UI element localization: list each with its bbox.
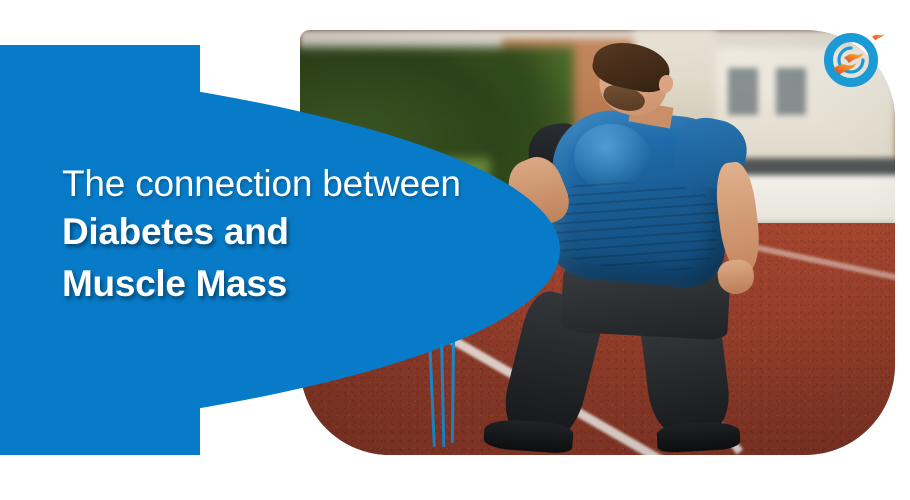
headline-line-3: Muscle Mass [62,258,562,311]
bird-circle-logo-icon [820,26,890,88]
headline-line-1: The connection between [62,163,562,206]
bird-circle-logo[interactable] [820,26,890,88]
headline-block: The connection between Diabetes and Musc… [62,163,562,311]
promo-banner: The connection between Diabetes and Musc… [0,0,910,500]
headline-line-2: Diabetes and [62,206,562,259]
